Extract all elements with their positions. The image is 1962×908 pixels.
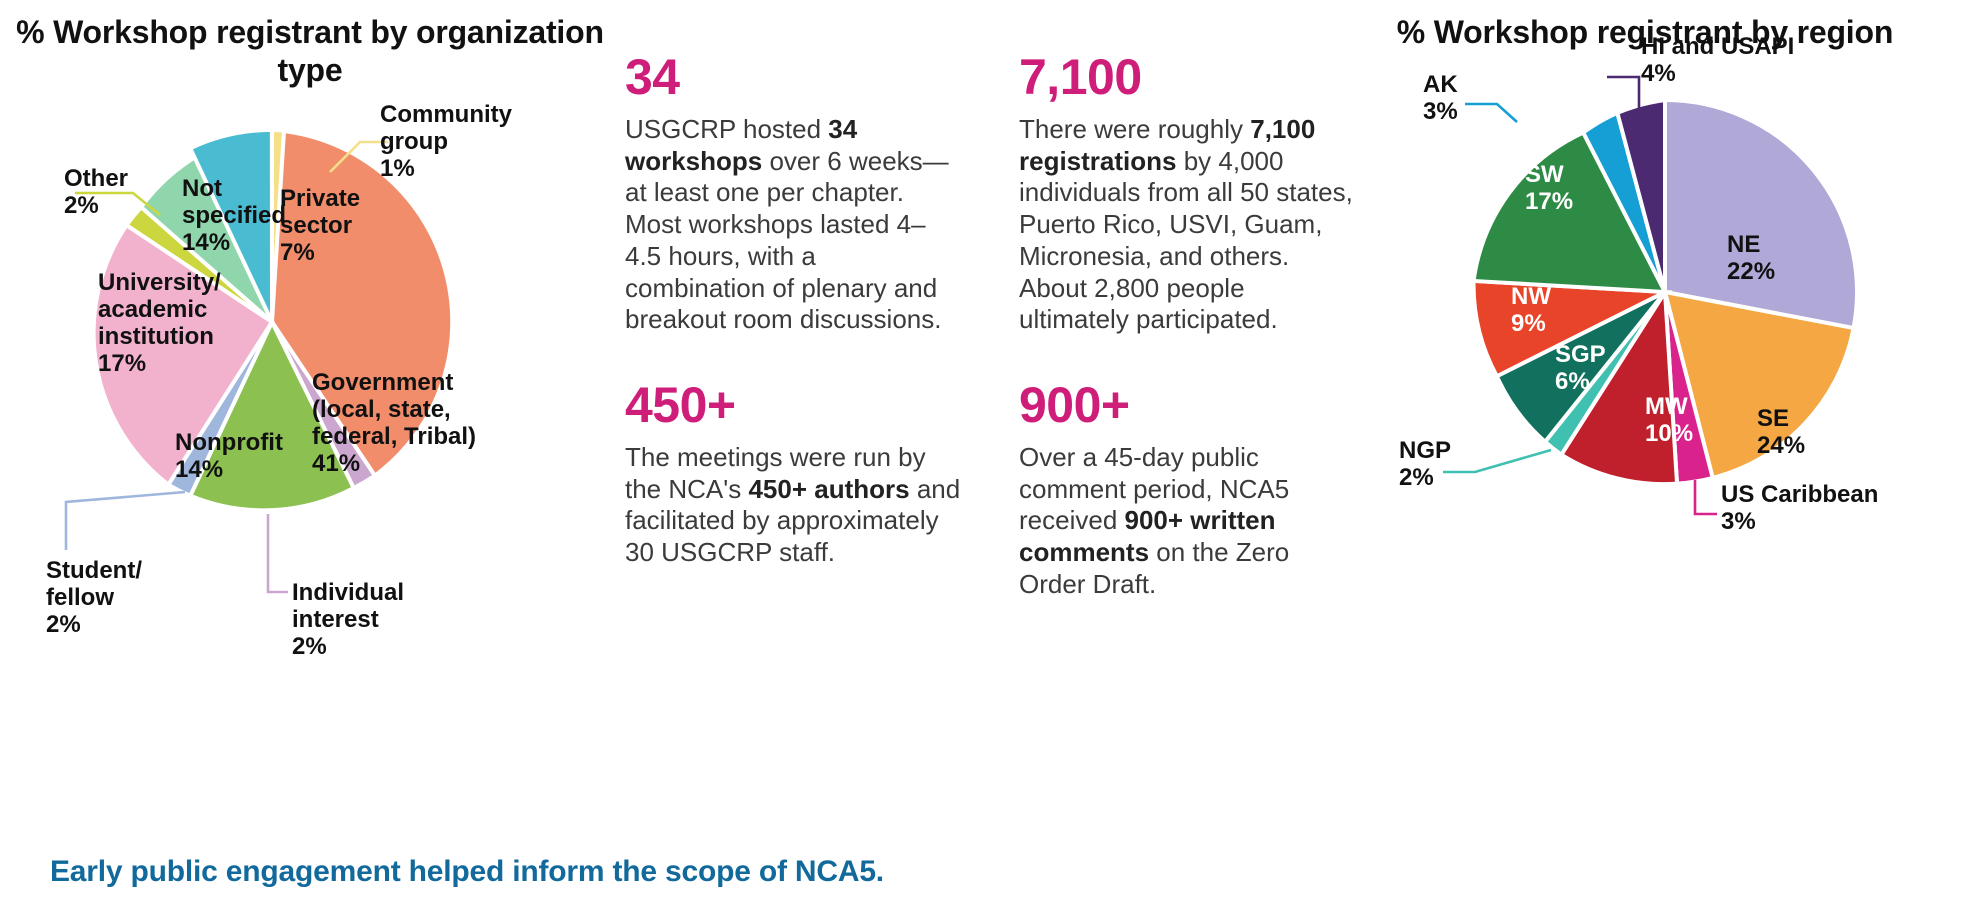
callout-label-ak: AK 3% (1423, 71, 1464, 125)
pie-region: NE 22% SE 24% MW 10% SGP 6% (1365, 52, 1925, 652)
infographic-page: % Workshop registrant by organization ty… (0, 0, 1962, 908)
stat-card-registrations: 7,100 There were roughly 7,100 registrat… (1019, 52, 1355, 336)
callout-label-community-group: Community group 1% (380, 101, 519, 182)
stat-number-comments: 900+ (1019, 380, 1355, 430)
leader-line-ngp (1443, 450, 1551, 472)
leader-line-ak (1465, 104, 1517, 122)
callout-label-student-fellow: Student/ fellow 2% (46, 557, 149, 638)
stat-body-authors: The meetings were run by the NCA's 450+ … (625, 442, 961, 569)
stat-number-registrations: 7,100 (1019, 52, 1355, 102)
pie-svg-organization-type: Government (local, state, federal, Triba… (0, 90, 620, 690)
chart-title-line-1: % Workshop registrant by organization ty… (16, 14, 604, 88)
chart-panel-organization-type: % Workshop registrant by organization ty… (0, 14, 620, 690)
pie-slice-ne[interactable] (1665, 100, 1857, 328)
stat-card-workshops: 34 USGCRP hosted 34 workshops over 6 wee… (625, 52, 961, 336)
leader-line-us-caribbean (1695, 480, 1717, 514)
footer-caption: Early public engagement helped inform th… (50, 855, 884, 889)
stats-row-bottom: 450+ The meetings were run by the NCA's … (625, 380, 1355, 601)
slice-label-government: Government (local, state, federal, Triba… (312, 369, 483, 477)
stats-grid: 34 USGCRP hosted 34 workshops over 6 wee… (625, 52, 1355, 601)
stat-number-workshops: 34 (625, 52, 961, 102)
stat-body-registrations: There were roughly 7,100 registrations b… (1019, 114, 1355, 336)
callout-label-ngp: NGP 2% (1399, 437, 1457, 491)
chart-title-organization-type: % Workshop registrant by organization ty… (0, 14, 620, 90)
slice-label-mw: MW 10% (1645, 393, 1694, 447)
leader-line-individual-interest (268, 514, 288, 592)
callout-label-us-caribbean: US Caribbean 3% (1721, 481, 1885, 535)
callout-label-individual-interest: Individual interest 2% (292, 579, 411, 660)
stat-body-workshops: USGCRP hosted 34 workshops over 6 weeks—… (625, 114, 961, 336)
leader-line-student-fellow (66, 492, 185, 550)
slice-label-sw: SW 17% (1525, 161, 1573, 215)
stat-number-authors: 450+ (625, 380, 961, 430)
stat-card-comments: 900+ Over a 45-day public comment period… (1019, 380, 1355, 601)
stats-row-top: 34 USGCRP hosted 34 workshops over 6 wee… (625, 52, 1355, 336)
stat-card-authors: 450+ The meetings were run by the NCA's … (625, 380, 961, 601)
chart-panel-region: % Workshop registrant by region (1365, 14, 1925, 652)
stat-body-comments: Over a 45-day public comment period, NCA… (1019, 442, 1355, 601)
callout-label-hi-usapi: HI and USAPI 4% (1641, 33, 1801, 87)
pie-svg-region: NE 22% SE 24% MW 10% SGP 6% (1365, 52, 1925, 652)
pie-organization-type: Government (local, state, federal, Triba… (0, 90, 620, 690)
